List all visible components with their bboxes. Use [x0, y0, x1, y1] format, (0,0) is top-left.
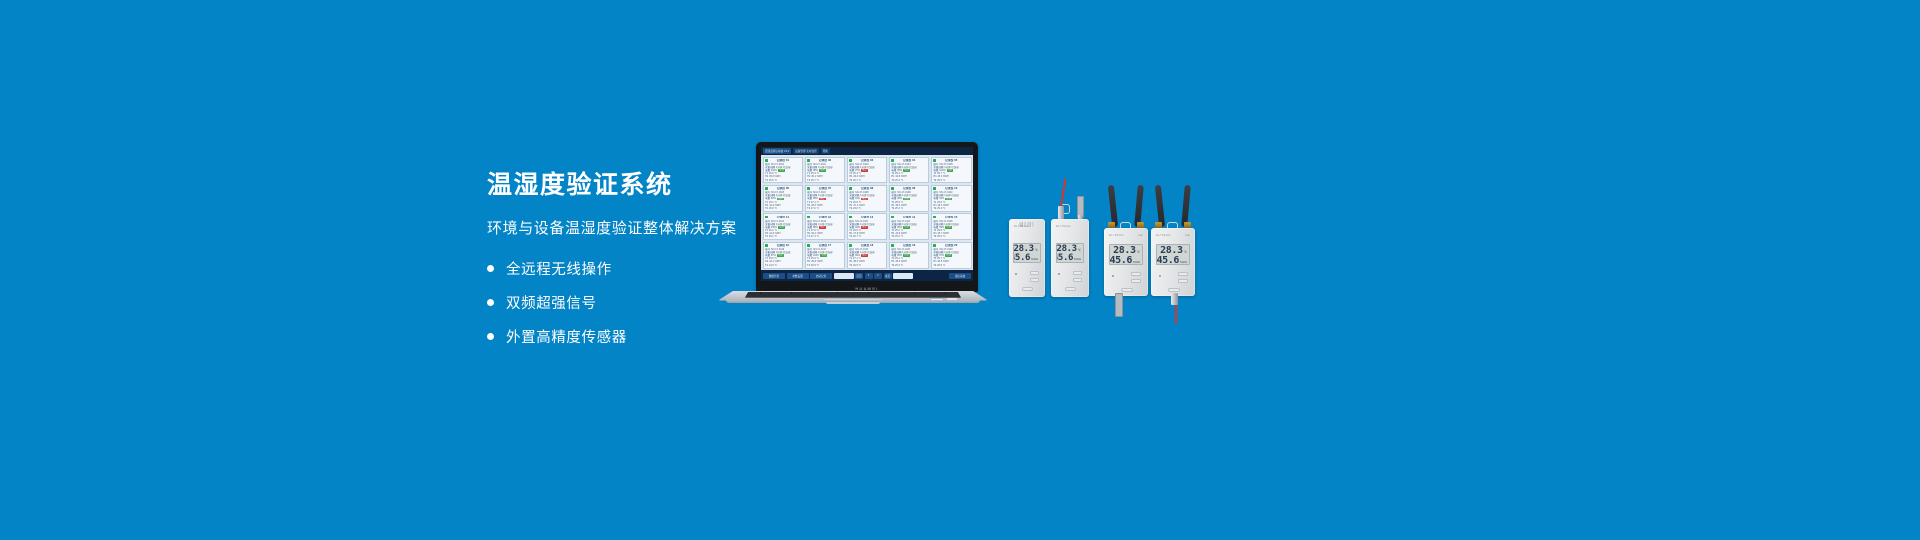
status-indicator-icon [807, 159, 810, 162]
status-indicator-icon [933, 159, 936, 162]
laptop-base [718, 291, 988, 303]
device-card-row: T225.2 ℃ [891, 179, 927, 182]
device-card-title: 记录仪 12 [807, 216, 843, 219]
device-card-row-key: T2 [765, 179, 768, 182]
probe-connector-body [1171, 293, 1178, 305]
device-card-row-key: T2 [849, 207, 852, 210]
logger-brand-label: ELITECH [1014, 224, 1029, 228]
logger-button-usb-cover[interactable] [1022, 287, 1033, 291]
device-card[interactable]: 记录仪 18编号SN-17-0118采集间隔1分钟 已连接电量86%报警T127… [847, 242, 888, 269]
device-card-row-key: T2 [891, 264, 894, 267]
logger-compact-left: ELITECH 28.3 ℃ 45.6 %RH TEMP / HUMI [1009, 219, 1045, 297]
logger-model-label: HE [1185, 233, 1190, 237]
keyboard-key[interactable] [799, 296, 826, 297]
lcd-temperature-unit: ℃ [1184, 251, 1187, 254]
device-card[interactable]: 记录仪 17编号SN-17-0117采集间隔1分钟 已连接电量100%在线T12… [805, 242, 846, 269]
logger-button-usb-cover[interactable] [1121, 288, 1133, 292]
device-card-row-key: T2 [891, 235, 894, 238]
device-card-row-key: T2 [891, 207, 894, 210]
device-card-title: 记录仪 04 [891, 159, 927, 162]
antenna-right-icon [1134, 185, 1144, 227]
feature-label: 全远程无线操作 [506, 258, 612, 279]
device-card-row-value: 25.2 ℃ [895, 235, 903, 238]
status-indicator-icon [807, 187, 810, 190]
device-card-row-value: 25.5 ℃ [937, 179, 945, 182]
lcd-humidity-unit: %RH [1180, 261, 1187, 264]
device-card-row: T225.2 ℃ [891, 235, 927, 238]
bottom-input-field-2[interactable] [893, 273, 913, 279]
bullet-dot-icon [487, 299, 494, 306]
device-card-row-key: T2 [933, 207, 936, 210]
device-card[interactable]: 记录仪 15编号SN-17-0115采集间隔1分钟 已连接电量99%在线T125… [931, 213, 972, 240]
topbar-tab-help[interactable]: 帮助 [821, 148, 830, 154]
lcd-humidity-value: 45.6 [1056, 254, 1073, 263]
status-led-icon [1112, 275, 1114, 277]
lcd-humidity-row: 45.6 %RH [1059, 254, 1081, 263]
pager-first[interactable]: 首页 [855, 273, 863, 279]
lcd-humidity-unit: %RH [1074, 258, 1081, 261]
device-status-badge: 在线 [945, 226, 952, 229]
device-status-badge: 报警 [861, 169, 868, 172]
device-card[interactable]: 记录仪 07编号SN-17-0107采集间隔1分钟 已连接电量89%报警T127… [805, 185, 846, 212]
feature-label: 外置高精度传感器 [506, 326, 627, 347]
device-card-title: 记录仪 06 [765, 187, 801, 190]
device-card-row-value: 24.9 ℃ [769, 264, 777, 267]
app-bottom-toolbar: 数据导出 参数设置 启动记录 首页 1 2 末页 退出系统 [761, 270, 973, 281]
device-card-row: T225.6 ℃ [933, 264, 969, 267]
device-card-title: 记录仪 18 [849, 244, 885, 247]
laptop-base-notch [826, 302, 880, 304]
device-card-title: 记录仪 17 [807, 244, 843, 247]
device-status-badge: 在线 [903, 169, 910, 172]
device-card-title: 记录仪 16 [765, 244, 801, 247]
keyboard-key[interactable] [934, 296, 961, 297]
keyboard-key[interactable] [745, 296, 772, 297]
logger-lcd-display: 28.3 ℃ 45.6 %RH TEMP / HUMI [1109, 244, 1143, 265]
status-indicator-icon [765, 159, 768, 162]
status-led-icon [1058, 273, 1060, 275]
hero-banner: 温湿度验证系统 环境与设备温湿度验证整体解决方案 全远程无线操作 双频超强信号 … [0, 0, 1920, 540]
device-card-row-key: T2 [765, 235, 768, 238]
logger-brand-label: ELITECH [1056, 224, 1071, 228]
device-card[interactable]: 记录仪 16编号SN-17-0116采集间隔1分钟 已连接电量87%在线T125… [763, 242, 804, 269]
device-card-row-value: 25.8 ℃ [811, 264, 819, 267]
logger-button-down[interactable] [1030, 278, 1039, 282]
device-card-title: 记录仪 19 [891, 244, 927, 247]
logger-button-up[interactable] [1030, 271, 1039, 275]
device-card-row: T225.3 ℃ [891, 264, 927, 267]
device-card[interactable]: 记录仪 06编号SN-17-0106采集间隔1分钟 已连接电量92%在线T125… [763, 185, 804, 212]
app-top-toolbar: 温湿度验证系统 V3.0 设备管理 实时监控 帮助 [761, 147, 973, 155]
device-card[interactable]: 记录仪 11编号SN-17-0111采集间隔1分钟 已连接电量100%在线T12… [763, 213, 804, 240]
device-card[interactable]: 记录仪 12编号SN-17-0112采集间隔1分钟 已连接电量88%报警T127… [805, 213, 846, 240]
device-card[interactable]: 记录仪 02编号SN-17-0102采集间隔1分钟 已连接电量98%在线T125… [805, 157, 846, 184]
device-card-row-value: 25.3 ℃ [895, 264, 903, 267]
device-card-row-key: T2 [891, 179, 894, 182]
device-status-badge: 在线 [778, 169, 785, 172]
device-card-row: T225.1 ℃ [765, 235, 801, 238]
lcd-humidity-row: 45.6 %RH [1159, 256, 1187, 265]
device-card-row-key: T2 [807, 235, 810, 238]
device-card-title: 记录仪 01 [765, 159, 801, 162]
device-card-title: 记录仪 09 [891, 187, 927, 190]
device-card-row-key: T2 [849, 264, 852, 267]
bottom-input-field[interactable] [834, 273, 854, 279]
device-card-row-value: 26.9 ℃ [853, 264, 861, 267]
device-card-row: T225.3 ℃ [891, 207, 927, 210]
logger-button-down[interactable] [1178, 279, 1188, 283]
topbar-tab-monitor[interactable]: 设备管理 实时监控 [793, 148, 818, 154]
device-card-row: T226.1 ℃ [849, 179, 885, 182]
logger-wireless-right: ELITECH HE 28.3 ℃ 45.6 %RH TEMP / HUMI [1151, 228, 1195, 296]
device-card-row: T225.6 ℃ [765, 179, 801, 182]
device-card-row-key: T2 [807, 179, 810, 182]
device-card-row: T225.0 ℃ [765, 207, 801, 210]
device-card-title: 记录仪 14 [891, 216, 927, 219]
device-card-title: 记录仪 05 [933, 159, 969, 162]
logger-button-usb-cover[interactable] [1065, 287, 1076, 291]
logger-brand-label: ELITECH [1109, 233, 1124, 237]
device-status-badge: 在线 [903, 254, 910, 257]
device-card-row: T225.5 ℃ [933, 179, 969, 182]
logger-button-down[interactable] [1073, 278, 1082, 282]
device-card-row-value: 26.1 ℃ [853, 179, 861, 182]
feature-item-3: 外置高精度传感器 [487, 326, 907, 347]
device-card-row: T225.7 ℃ [807, 179, 843, 182]
lcd-temperature-unit: ℃ [1137, 251, 1140, 254]
antenna-right-icon [1181, 185, 1191, 227]
pager-last[interactable]: 末页 [884, 273, 892, 279]
logger-brand-label: ELITECH [1156, 233, 1171, 237]
device-status-badge: 在线 [778, 226, 785, 229]
lcd-humidity-row: 45.6 %RH [1016, 254, 1038, 263]
device-card-row-value: 26.7 ℃ [853, 235, 861, 238]
bottom-button-settings[interactable]: 参数设置 [787, 273, 809, 279]
laptop-lid: 温湿度验证系统 V3.0 设备管理 实时监控 帮助 记录仪 01编号SN-17-… [756, 142, 978, 292]
device-card-row-key: T2 [933, 264, 936, 267]
laptop-screen: 温湿度验证系统 V3.0 设备管理 实时监控 帮助 记录仪 01编号SN-17-… [761, 147, 973, 281]
device-status-badge: 在线 [777, 254, 784, 257]
lcd-temperature-unit: ℃ [1078, 249, 1081, 252]
device-card[interactable]: 记录仪 14编号SN-17-0114采集间隔1分钟 已连接电量90%在线T125… [889, 213, 930, 240]
device-card-row-value: 27.0 ℃ [811, 207, 819, 210]
bullet-dot-icon [487, 333, 494, 340]
laptop-brand-label: HUAWEI [756, 286, 978, 291]
device-card-row: T226.9 ℃ [849, 264, 885, 267]
device-card-row-value: 27.3 ℃ [811, 235, 819, 238]
device-card[interactable]: 记录仪 01编号SN-17-0101采集间隔1分钟 已连接电量100%在线T12… [763, 157, 804, 184]
logger-lcd-display: 28.3 ℃ 45.6 %RH TEMP / HUMI [1056, 243, 1084, 263]
device-card-row-key: T2 [765, 264, 768, 267]
status-indicator-icon [765, 187, 768, 190]
status-indicator-icon [933, 244, 936, 247]
device-card-title: 记录仪 02 [807, 159, 843, 162]
device-card-grid: 记录仪 01编号SN-17-0101采集间隔1分钟 已连接电量100%在线T12… [761, 155, 973, 270]
logger-button-usb-cover[interactable] [1168, 288, 1180, 292]
device-card[interactable]: 记录仪 04编号SN-17-0104采集间隔1分钟 已连接电量95%在线T125… [889, 157, 930, 184]
topbar-tab-system[interactable]: 温湿度验证系统 V3.0 [763, 148, 791, 154]
device-card-row-key: T2 [933, 179, 936, 182]
keyboard-key[interactable] [907, 296, 934, 297]
device-card-row-key: T2 [765, 207, 768, 210]
laptop-keyboard[interactable] [745, 292, 961, 298]
logger-button-up[interactable] [1131, 272, 1141, 276]
device-card-title: 记录仪 11 [765, 216, 801, 219]
device-card-title: 记录仪 03 [849, 159, 885, 162]
logger-button-down[interactable] [1131, 279, 1141, 283]
status-indicator-icon [849, 159, 852, 162]
lcd-temperature-unit: ℃ [1035, 249, 1038, 252]
device-card-row: T225.4 ℃ [933, 207, 969, 210]
device-card-row-key: T2 [849, 179, 852, 182]
device-card-row-key: T2 [849, 235, 852, 238]
device-card-row: T224.9 ℃ [765, 264, 801, 267]
status-led-icon [1159, 275, 1161, 277]
status-indicator-icon [933, 216, 936, 219]
device-status-badge: 报警 [819, 226, 826, 229]
device-card-title: 记录仪 07 [807, 187, 843, 190]
device-status-badge: 在线 [947, 169, 954, 172]
device-card-row-value: 25.1 ℃ [769, 235, 777, 238]
device-card[interactable]: 记录仪 05编号SN-17-0105采集间隔1分钟 已连接电量100%在线T12… [931, 157, 972, 184]
device-card-row: T227.3 ℃ [807, 235, 843, 238]
sensor-probe-mesh-icon [1115, 293, 1123, 317]
status-indicator-icon [933, 187, 936, 190]
antenna-left-icon [1155, 185, 1165, 227]
keyboard-key[interactable] [880, 296, 907, 297]
device-card[interactable]: 记录仪 10编号SN-17-0110采集间隔1分钟 已连接电量94%在线T125… [931, 185, 972, 212]
device-card-row: T225.8 ℃ [807, 264, 843, 267]
device-card-title: 记录仪 08 [849, 187, 885, 190]
status-indicator-icon [891, 187, 894, 190]
logger-button-up[interactable] [1178, 272, 1188, 276]
bottom-button-start[interactable]: 启动记录 [810, 273, 832, 279]
lcd-humidity-unit: %RH [1031, 258, 1038, 261]
lcd-humidity-unit: %RH [1133, 261, 1140, 264]
device-status-badge: 报警 [861, 254, 868, 257]
bottom-button-export[interactable]: 数据导出 [763, 273, 785, 279]
pager-page-1[interactable]: 1 [865, 273, 873, 279]
device-card-row-value: 25.3 ℃ [895, 207, 903, 210]
lcd-humidity-value: 45.6 [1110, 256, 1132, 265]
device-card[interactable]: 记录仪 09编号SN-17-0109采集间隔1分钟 已连接电量96%在线T125… [889, 185, 930, 212]
device-card-title: 记录仪 10 [933, 187, 969, 190]
device-card-row-value: 26.6 ℃ [853, 207, 861, 210]
device-card-row-value: 25.6 ℃ [937, 264, 945, 267]
device-card[interactable]: 记录仪 08编号SN-17-0108采集间隔1分钟 已连接电量91%报警T126… [847, 185, 888, 212]
status-indicator-icon [807, 244, 810, 247]
device-card[interactable]: 记录仪 19编号SN-17-0119采集间隔1分钟 已连接电量95%在线T125… [889, 242, 930, 269]
bullet-dot-icon [487, 265, 494, 272]
logger-lcd-display: 28.3 ℃ 45.6 %RH TEMP / HUMI [1013, 243, 1041, 263]
status-indicator-icon [891, 159, 894, 162]
device-card[interactable]: 记录仪 03编号SN-17-0103采集间隔1分钟 已连接电量97%报警T126… [847, 157, 888, 184]
probe-connector-body [1058, 206, 1064, 220]
status-indicator-icon [849, 244, 852, 247]
device-card[interactable]: 记录仪 20编号SN-17-0120采集间隔1分钟 已连接电量97%在线T125… [931, 242, 972, 269]
device-card-row-value: 25.7 ℃ [811, 179, 819, 182]
lcd-humidity-row: 45.6 %RH [1112, 256, 1140, 265]
status-indicator-icon [765, 244, 768, 247]
device-card-row-value: 25.6 ℃ [769, 179, 777, 182]
device-card-row: T226.7 ℃ [849, 235, 885, 238]
device-card-row-value: 25.2 ℃ [895, 179, 903, 182]
pager-page-2[interactable]: 2 [874, 273, 882, 279]
lcd-humidity-value: 45.6 [1157, 256, 1179, 265]
device-card-row-key: T2 [807, 207, 810, 210]
bottom-button-exit[interactable]: 退出系统 [949, 273, 971, 279]
device-card-row: T226.6 ℃ [849, 207, 885, 210]
logger-button-up[interactable] [1073, 271, 1082, 275]
status-indicator-icon [891, 244, 894, 247]
status-indicator-icon [891, 216, 894, 219]
logger-model-label: HE [1138, 233, 1143, 237]
logger-compact-right: ELITECH 28.3 ℃ 45.6 %RH TEMP / HUMI [1051, 219, 1089, 297]
device-card-row: T225.6 ℃ [933, 235, 969, 238]
device-status-badge: 在线 [819, 169, 826, 172]
keyboard-key[interactable] [772, 296, 799, 297]
device-card-row-value: 25.0 ℃ [769, 207, 777, 210]
logger-wireless-left: ELITECH HE 28.3 ℃ 45.6 %RH TEMP / HUMI [1104, 228, 1148, 296]
device-status-badge: 在线 [820, 254, 827, 257]
logger-lcd-display: 28.3 ℃ 45.6 %RH TEMP / HUMI [1156, 244, 1190, 265]
feature-label: 双频超强信号 [506, 292, 597, 313]
antenna-left-icon [1108, 185, 1118, 227]
device-card-row-key: T2 [807, 264, 810, 267]
device-card-row-value: 25.4 ℃ [937, 207, 945, 210]
status-indicator-icon [849, 187, 852, 190]
lcd-humidity-value: 45.6 [1013, 254, 1030, 263]
device-card-row-value: 25.6 ℃ [937, 235, 945, 238]
device-card-title: 记录仪 20 [933, 244, 969, 247]
device-status-badge: 在线 [903, 226, 910, 229]
device-status-badge: 报警 [861, 226, 868, 229]
device-card[interactable]: 记录仪 13编号SN-17-0113采集间隔1分钟 已连接电量93%报警T126… [847, 213, 888, 240]
status-led-icon [1015, 273, 1017, 275]
device-card-title: 记录仪 13 [849, 216, 885, 219]
device-card-row-key: T2 [933, 235, 936, 238]
device-status-badge: 在线 [945, 254, 952, 257]
device-card-title: 记录仪 15 [933, 216, 969, 219]
device-card-row: T227.0 ℃ [807, 207, 843, 210]
laptop-product-image: 温湿度验证系统 V3.0 设备管理 实时监控 帮助 记录仪 01编号SN-17-… [718, 142, 988, 300]
